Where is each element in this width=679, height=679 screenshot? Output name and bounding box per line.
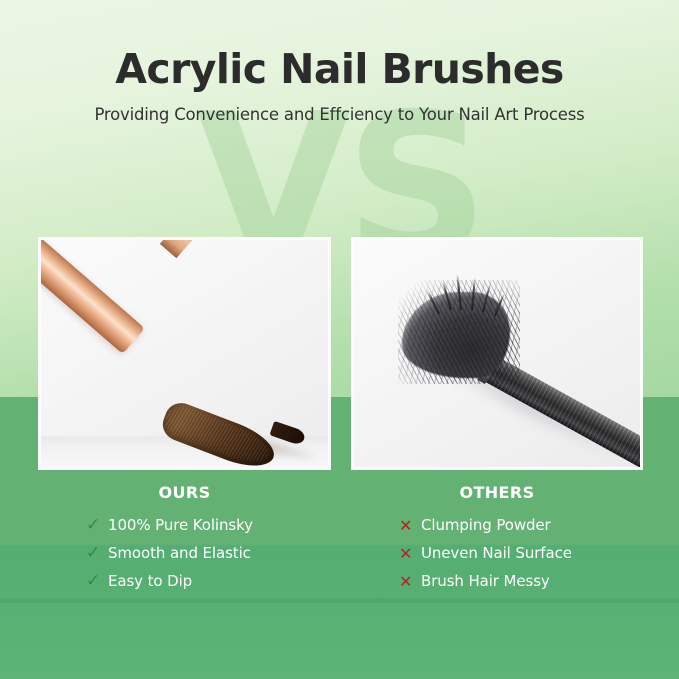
cross-icon: ✕ [399, 517, 421, 534]
page-subtitle: Providing Convenience and Effciency to Y… [0, 104, 679, 126]
list-item: ✕ Uneven Nail Surface [399, 539, 643, 567]
infographic-canvas: VS Acrylic Nail Brushes Providing Conven… [0, 0, 679, 679]
product-image-ours [38, 237, 331, 470]
cross-icon: ✕ [399, 573, 421, 590]
feature-label: Clumping Powder [421, 516, 551, 534]
column-heading-ours: OURS [38, 483, 331, 502]
product-image-others [351, 237, 643, 470]
list-item: ✕ Brush Hair Messy [399, 567, 643, 595]
list-item: ✓ Easy to Dip [86, 567, 331, 595]
feature-list-ours: ✓ 100% Pure Kolinsky ✓ Smooth and Elasti… [38, 511, 331, 595]
brush-ferrule [160, 237, 199, 258]
comparison-columns: OURS ✓ 100% Pure Kolinsky ✓ Smooth and E… [0, 483, 679, 603]
comparison-column-others: OTHERS ✕ Clumping Powder ✕ Uneven Nail S… [351, 483, 643, 595]
feature-label: Brush Hair Messy [421, 572, 550, 590]
brush-handle-rose-gold [38, 237, 145, 354]
list-item: ✓ Smooth and Elastic [86, 539, 331, 567]
feature-label: 100% Pure Kolinsky [108, 516, 253, 534]
page-title: Acrylic Nail Brushes [0, 44, 679, 94]
feature-label: Uneven Nail Surface [421, 544, 572, 562]
feature-list-others: ✕ Clumping Powder ✕ Uneven Nail Surface … [351, 511, 643, 595]
feature-label: Smooth and Elastic [108, 544, 251, 562]
photo-others [354, 240, 640, 467]
list-item: ✕ Clumping Powder [399, 511, 643, 539]
check-icon: ✓ [86, 517, 108, 534]
check-icon: ✓ [86, 545, 108, 562]
list-item: ✓ 100% Pure Kolinsky [86, 511, 331, 539]
feature-label: Easy to Dip [108, 572, 192, 590]
column-heading-others: OTHERS [351, 483, 643, 502]
check-icon: ✓ [86, 573, 108, 590]
photo-ours [41, 240, 328, 467]
cross-icon: ✕ [399, 545, 421, 562]
header-block: Acrylic Nail Brushes Providing Convenien… [0, 44, 679, 126]
comparison-column-ours: OURS ✓ 100% Pure Kolinsky ✓ Smooth and E… [38, 483, 331, 595]
